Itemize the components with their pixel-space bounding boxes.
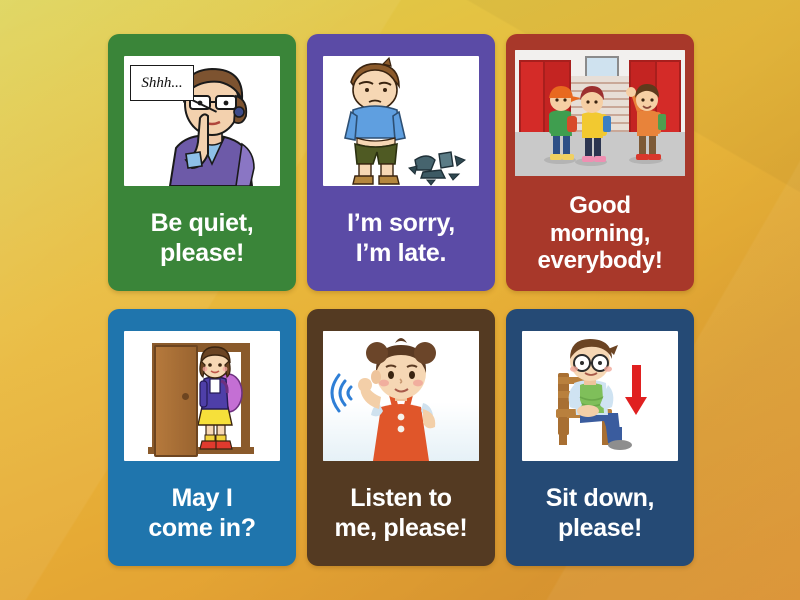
girl-figure-icon: [124, 331, 280, 461]
card-caption-listen-to-me-please: Listen to me, please!: [329, 461, 474, 566]
flashcard-board: Shhh...: [0, 0, 800, 600]
woman-shushing-illustration: Shhh...: [124, 56, 280, 186]
girl-listening-illustration: [323, 331, 479, 461]
card-caption-may-i-come-in: May I come in?: [142, 461, 261, 566]
boy-sitting-on-chair-illustration: [522, 331, 678, 461]
listening-girl-figure-icon: [323, 331, 479, 461]
flashcard-may-i-come-in[interactable]: May I come in?: [108, 309, 296, 566]
card-image-be-quiet: Shhh...: [124, 56, 280, 186]
card-caption-sit-down-please: Sit down, please!: [540, 461, 660, 566]
flashcard-im-sorry-im-late[interactable]: I’m sorry, I’m late.: [307, 34, 495, 291]
card-caption-be-quiet: Be quiet, please!: [145, 186, 260, 291]
flashcard-good-morning-everybody[interactable]: Good morning, everybody!: [506, 34, 694, 291]
down-arrow-shaft-icon: [632, 365, 641, 401]
door-knob-icon: [182, 393, 189, 400]
flashcard-sit-down-please[interactable]: Sit down, please!: [506, 309, 694, 566]
speech-bubble: Shhh...: [130, 65, 194, 101]
down-arrow-head-icon: [625, 397, 647, 415]
children-figures-icon: [515, 50, 685, 176]
boy-broken-vase-illustration: [323, 56, 479, 186]
card-image-sit-down-please: [522, 331, 678, 461]
sad-boy-figure-icon: [323, 56, 479, 186]
card-image-listen-to-me-please: [323, 331, 479, 461]
door-panel-icon: [154, 345, 198, 457]
card-image-may-i-come-in: [124, 331, 280, 461]
children-school-hallway-illustration: [515, 50, 685, 176]
flashcard-listen-to-me-please[interactable]: Listen to me, please!: [307, 309, 495, 566]
flashcard-be-quiet[interactable]: Shhh...: [108, 34, 296, 291]
card-image-im-sorry-im-late: [323, 56, 479, 186]
card-caption-good-morning-everybody: Good morning, everybody!: [531, 176, 668, 291]
sitting-boy-figure-icon: [522, 331, 678, 461]
card-image-good-morning-everybody: [515, 50, 685, 176]
card-caption-im-sorry-im-late: I’m sorry, I’m late.: [341, 186, 461, 291]
girl-at-open-door-illustration: [124, 331, 280, 461]
flashcard-grid: Shhh...: [108, 34, 694, 568]
